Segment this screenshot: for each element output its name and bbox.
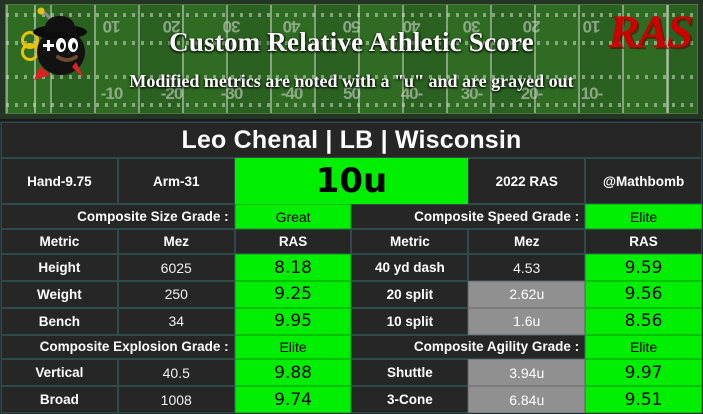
metric-name: 10 split xyxy=(351,308,468,335)
metric-ras: 9.95 xyxy=(235,308,352,335)
metric-value: 6025 xyxy=(118,254,235,281)
metric-ras: 9.51 xyxy=(585,386,702,413)
metric-ras: 8.56 xyxy=(585,308,702,335)
composite-explosion-grade-value: Elite xyxy=(235,335,352,360)
header-metric-right: Metric xyxy=(351,229,468,254)
hand-measurement: Hand-9.75 xyxy=(1,158,118,204)
metric-value: 4.53 xyxy=(468,254,585,281)
metric-value: 40.5 xyxy=(118,359,235,386)
metric-ras: 9.59 xyxy=(585,254,702,281)
composite-size-grade-value: Great xyxy=(235,204,352,229)
header-subtitle: Modified metrics are noted with a "u" an… xyxy=(6,71,697,92)
metric-ras: 9.74 xyxy=(235,386,352,413)
metric-value-modified: 2.62u xyxy=(468,281,585,308)
table-row: Bench 34 9.95 10 split 1.6u 8.56 xyxy=(1,308,702,335)
metric-name: Broad xyxy=(1,386,118,413)
player-info-row: Hand-9.75 Arm-31 10u 2022 RAS @Mathbomb xyxy=(1,158,702,204)
metric-value: 1008 xyxy=(118,386,235,413)
metric-value-modified: 3.94u xyxy=(468,359,585,386)
metric-ras: 9.56 xyxy=(585,281,702,308)
ras-year-label: 2022 RAS xyxy=(468,158,585,204)
header-banner: 10 20 30 40 50 40 30 20 10 -10 -20 -30 -… xyxy=(0,0,703,121)
stats-table: Leo Chenal | LB | Wisconsin Hand-9.75 Ar… xyxy=(0,121,703,414)
metric-name: Bench xyxy=(1,308,118,335)
metric-name: Shuttle xyxy=(351,359,468,386)
metric-value: 250 xyxy=(118,281,235,308)
metric-ras: 8.18 xyxy=(235,254,352,281)
ras-card: 10 20 30 40 50 40 30 20 10 -10 -20 -30 -… xyxy=(0,0,703,414)
author-handle: @Mathbomb xyxy=(585,158,702,204)
composite-grade-row-2: Composite Explosion Grade : Elite Compos… xyxy=(1,335,702,360)
header-mez-left: Mez xyxy=(118,229,235,254)
metric-value-modified: 6.84u xyxy=(468,386,585,413)
metric-name: Vertical xyxy=(1,359,118,386)
composite-agility-grade-label: Composite Agility Grade : xyxy=(351,335,585,360)
arm-measurement: Arm-31 xyxy=(118,158,235,204)
metric-ras: 9.97 xyxy=(585,359,702,386)
table-row: Vertical 40.5 9.88 Shuttle 3.94u 9.97 xyxy=(1,359,702,386)
overall-ras-score: 10u xyxy=(235,158,469,204)
composite-speed-grade-value: Elite xyxy=(585,204,702,229)
metric-name: 20 split xyxy=(351,281,468,308)
page-title: Custom Relative Athletic Score xyxy=(6,27,697,58)
composite-explosion-grade-label: Composite Explosion Grade : xyxy=(1,335,235,360)
metric-value-modified: 1.6u xyxy=(468,308,585,335)
column-header-row-1: Metric Mez RAS Metric Mez RAS xyxy=(1,229,702,254)
header-ras-left: RAS xyxy=(235,229,352,254)
metric-ras: 9.25 xyxy=(235,281,352,308)
player-name-row: Leo Chenal | LB | Wisconsin xyxy=(1,122,702,158)
metric-name: Height xyxy=(1,254,118,281)
player-name: Leo Chenal | LB | Wisconsin xyxy=(1,122,702,158)
composite-size-grade-label: Composite Size Grade : xyxy=(1,204,235,229)
composite-grade-row-1: Composite Size Grade : Great Composite S… xyxy=(1,204,702,229)
header-metric-left: Metric xyxy=(1,229,118,254)
metric-ras: 9.88 xyxy=(235,359,352,386)
table-row: Weight 250 9.25 20 split 2.62u 9.56 xyxy=(1,281,702,308)
bob-omb-icon xyxy=(14,7,100,91)
metric-value: 34 xyxy=(118,308,235,335)
table-row: Height 6025 8.18 40 yd dash 4.53 9.59 xyxy=(1,254,702,281)
header-ras-right: RAS xyxy=(585,229,702,254)
metric-name: 40 yd dash xyxy=(351,254,468,281)
composite-agility-grade-value: Elite xyxy=(585,335,702,360)
table-row: Broad 1008 9.74 3-Cone 6.84u 9.51 xyxy=(1,386,702,413)
metric-name: 3-Cone xyxy=(351,386,468,413)
metric-name: Weight xyxy=(1,281,118,308)
ras-logo: RAS xyxy=(608,9,691,56)
composite-speed-grade-label: Composite Speed Grade : xyxy=(351,204,585,229)
football-field-background: 10 20 30 40 50 40 30 20 10 -10 -20 -30 -… xyxy=(5,4,698,114)
header-mez-right: Mez xyxy=(468,229,585,254)
